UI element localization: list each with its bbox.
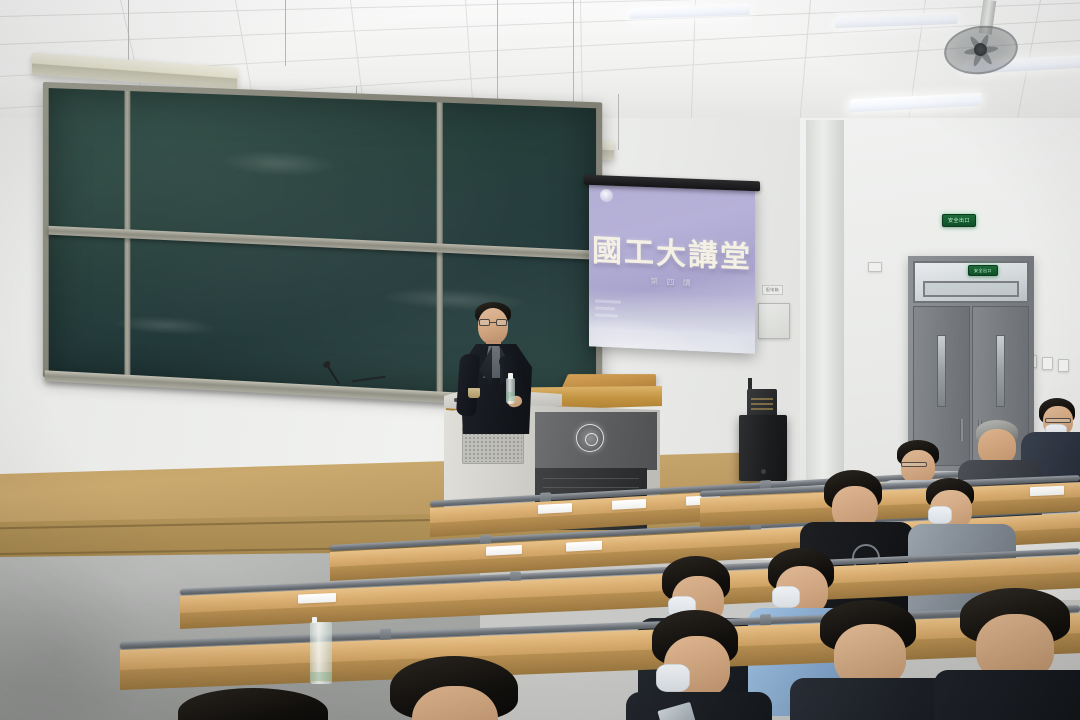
exit-sign-label: 安全出口	[948, 217, 970, 224]
electrical-panel-label: 配电箱	[762, 285, 783, 295]
door-handle[interactable]	[960, 419, 964, 441]
pendant-suspension-rod	[285, 0, 286, 66]
exit-sign-door: 安全出口	[968, 265, 998, 276]
paper-sheet	[612, 499, 646, 510]
door-window	[937, 335, 946, 407]
presenter-head	[478, 308, 508, 344]
exit-sign-door-label: 安全出口	[974, 268, 992, 274]
wall-socket[interactable]	[1042, 357, 1053, 370]
paper-sheet	[566, 541, 602, 552]
face-mask	[928, 506, 952, 524]
pendant-suspension-rod	[497, 0, 498, 110]
screen-subtitle-text: 第 四 講	[589, 273, 755, 292]
university-seal-logo	[600, 189, 613, 203]
electrical-panel-box	[758, 303, 790, 339]
paper-sheet	[538, 503, 572, 514]
paper-sheet	[486, 545, 522, 556]
face-mask	[656, 664, 690, 692]
pendant-suspension-rod	[128, 0, 129, 62]
screen-title-text: 國工大講堂	[589, 225, 755, 277]
eyeglasses-icon	[901, 462, 927, 467]
wall-junction-box	[868, 262, 882, 272]
wall-socket[interactable]	[1058, 359, 1069, 372]
face-mask	[772, 586, 800, 608]
presenter-glasses-icon	[479, 319, 507, 326]
lecture-hall-photo: 國工大講堂 第 四 講 安全出口 安全出口 配电箱	[0, 0, 1080, 720]
exit-sign-upper: 安全出口	[942, 214, 976, 227]
projection-screen: 國工大講堂 第 四 講	[589, 181, 755, 354]
door-window	[996, 335, 1005, 407]
wall-pillar	[806, 120, 844, 520]
paper-sheet	[298, 593, 336, 604]
paper-sheet	[1030, 486, 1064, 496]
water-bottle	[310, 622, 332, 684]
pendant-suspension-rod	[618, 94, 619, 150]
university-crest-emblem	[576, 424, 604, 452]
screen-text-lines	[595, 300, 621, 322]
eyeglasses-icon	[1045, 418, 1071, 423]
portable-amplifier	[747, 389, 777, 417]
tea-cup	[468, 388, 480, 398]
pa-speaker-cabinet	[739, 415, 787, 481]
presenter-person	[452, 298, 542, 434]
water-bottle	[506, 378, 515, 404]
